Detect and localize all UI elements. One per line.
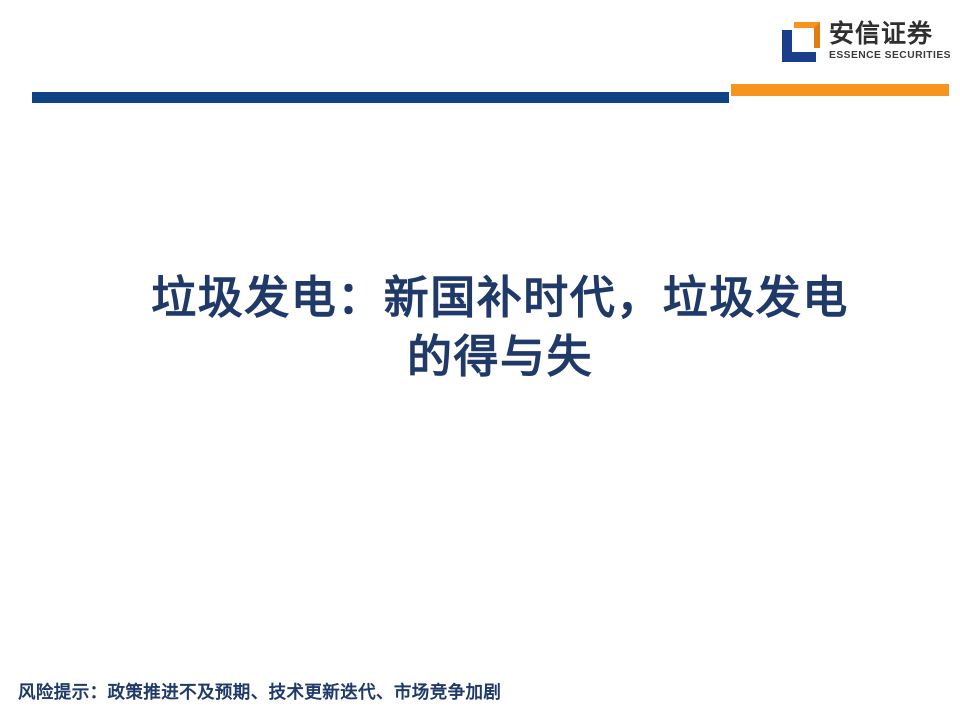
brand-logo: 安信证券 ESSENCE SECURITIES xyxy=(778,18,950,76)
essence-cube-logo-icon xyxy=(778,20,822,64)
page-title: 垃圾发电：新国补时代，垃圾发电 的得与失 xyxy=(120,268,880,387)
title-line-1: 垃圾发电：新国补时代，垃圾发电 xyxy=(120,268,880,327)
brand-name-cn: 安信证券 xyxy=(829,21,951,47)
risk-note: 风险提示：政策推进不及预期、技术更新迭代、市场竞争加剧 xyxy=(18,679,501,704)
header-rule-orange xyxy=(731,84,949,96)
brand-text: 安信证券 ESSENCE SECURITIES xyxy=(829,18,951,61)
slide-canvas: 安信证券 ESSENCE SECURITIES 垃圾发电：新国补时代，垃圾发电 … xyxy=(0,0,960,720)
header-rule-blue xyxy=(32,92,729,103)
brand-name-en: ESSENCE SECURITIES xyxy=(829,50,951,61)
title-line-2: 的得与失 xyxy=(120,327,880,386)
